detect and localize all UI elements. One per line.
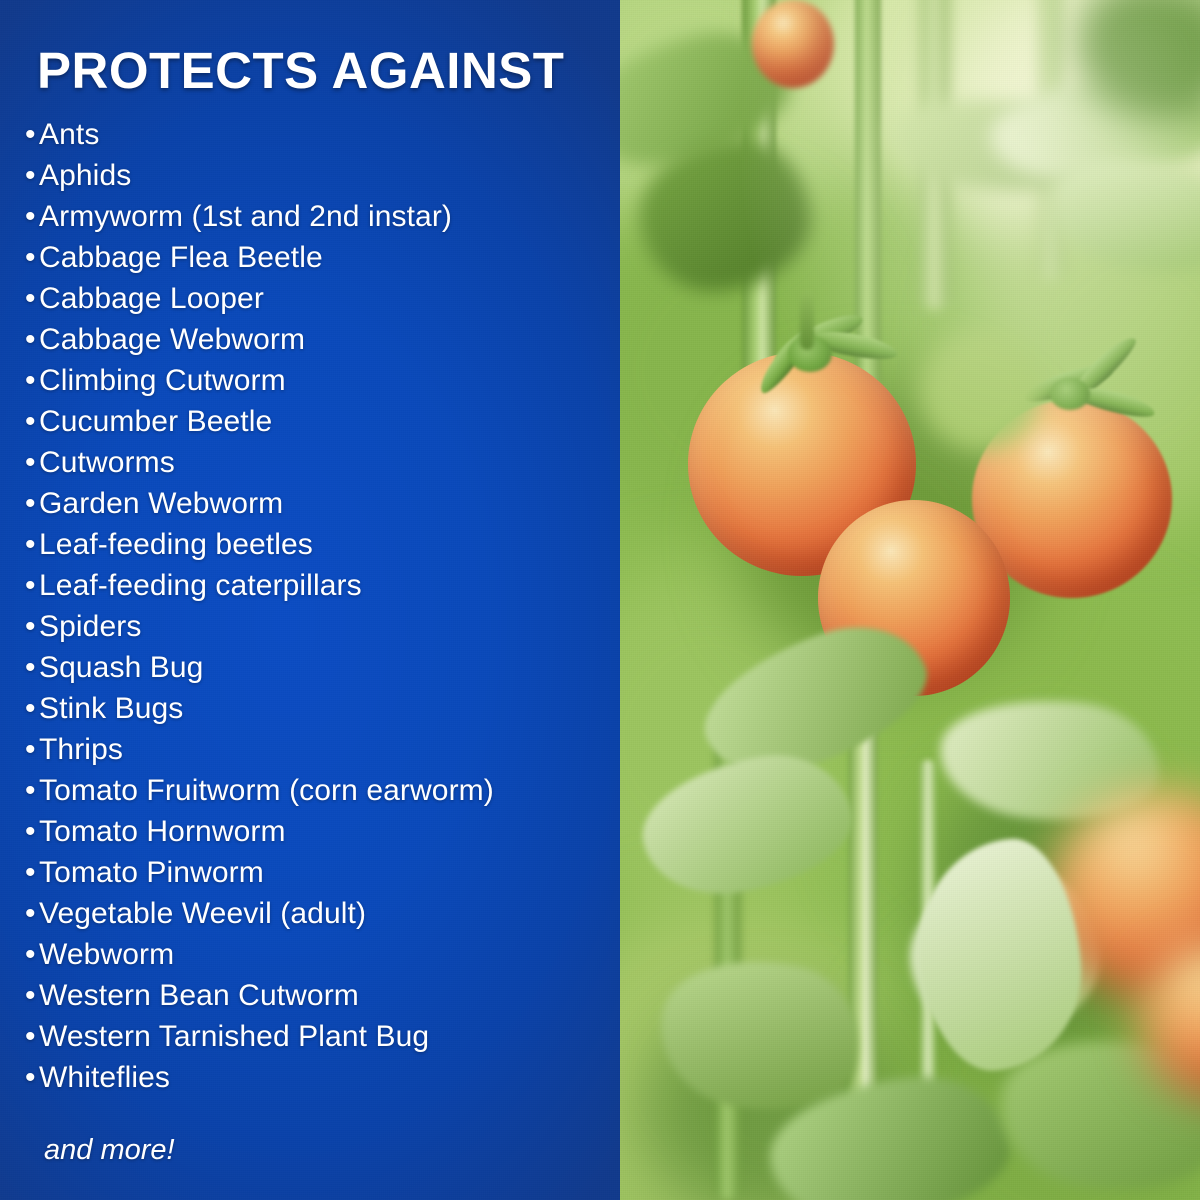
product-benefit-graphic: PROTECTS AGAINST •Ants •Aphids •Armyworm… <box>0 0 1200 1200</box>
list-item: •Tomato Fruitworm (corn earworm) <box>25 770 620 811</box>
list-item: •Whiteflies <box>25 1057 620 1098</box>
list-item-label: Leaf-feeding caterpillars <box>39 565 362 606</box>
list-item: •Stink Bugs <box>25 688 620 729</box>
unripe-tomato <box>920 330 1040 450</box>
bullet-icon: • <box>25 1016 39 1057</box>
list-item: •Vegetable Weevil (adult) <box>25 893 620 934</box>
bullet-icon: • <box>25 1057 39 1098</box>
list-item-label: Cucumber Beetle <box>39 401 272 442</box>
list-item-label: Cutworms <box>39 442 175 483</box>
list-item: •Western Bean Cutworm <box>25 975 620 1016</box>
list-item-label: Cabbage Looper <box>39 278 264 319</box>
list-item: •Garden Webworm <box>25 483 620 524</box>
bullet-icon: • <box>25 524 39 565</box>
list-item: •Tomato Hornworm <box>25 811 620 852</box>
list-item: •Tomato Pinworm <box>25 852 620 893</box>
and-more-note: and more! <box>44 1134 620 1167</box>
list-item-label: Whiteflies <box>39 1057 170 1098</box>
list-item-label: Leaf-feeding beetles <box>39 524 313 565</box>
list-item: •Cabbage Flea Beetle <box>25 237 620 278</box>
pest-list: •Ants •Aphids •Armyworm (1st and 2nd ins… <box>25 114 620 1098</box>
list-item-label: Tomato Pinworm <box>39 852 264 893</box>
tomato-plant-photo <box>620 0 1200 1200</box>
list-item: •Webworm <box>25 934 620 975</box>
list-item: •Squash Bug <box>25 647 620 688</box>
list-item-label: Ants <box>39 114 99 155</box>
list-item-label: Spiders <box>39 606 141 647</box>
list-item: •Leaf-feeding caterpillars <box>25 565 620 606</box>
list-item: •Cucumber Beetle <box>25 401 620 442</box>
bullet-icon: • <box>25 811 39 852</box>
bullet-icon: • <box>25 647 39 688</box>
list-item: •Cutworms <box>25 442 620 483</box>
list-item-label: Thrips <box>39 729 123 770</box>
page-title: PROTECTS AGAINST <box>37 44 620 98</box>
bullet-icon: • <box>25 483 39 524</box>
list-item-label: Cabbage Flea Beetle <box>39 237 323 278</box>
list-item: •Western Tarnished Plant Bug <box>25 1016 620 1057</box>
bullet-icon: • <box>25 893 39 934</box>
list-item-label: Garden Webworm <box>39 483 283 524</box>
bullet-icon: • <box>25 934 39 975</box>
bullet-icon: • <box>25 770 39 811</box>
list-item: •Armyworm (1st and 2nd instar) <box>25 196 620 237</box>
list-item: •Cabbage Webworm <box>25 319 620 360</box>
list-item-label: Cabbage Webworm <box>39 319 305 360</box>
list-item-label: Aphids <box>39 155 131 196</box>
list-item: •Cabbage Looper <box>25 278 620 319</box>
bullet-icon: • <box>25 319 39 360</box>
list-item: •Leaf-feeding beetles <box>25 524 620 565</box>
list-item-label: Climbing Cutworm <box>39 360 286 401</box>
list-item-label: Tomato Fruitworm (corn earworm) <box>39 770 494 811</box>
list-item: •Thrips <box>25 729 620 770</box>
list-item-label: Western Bean Cutworm <box>39 975 359 1016</box>
protects-against-panel: PROTECTS AGAINST •Ants •Aphids •Armyworm… <box>0 0 620 1200</box>
list-item-label: Vegetable Weevil (adult) <box>39 893 366 934</box>
bullet-icon: • <box>25 442 39 483</box>
tomato-pedicel <box>800 290 814 350</box>
bullet-icon: • <box>25 237 39 278</box>
bullet-icon: • <box>25 688 39 729</box>
tomato-fruit <box>752 0 834 88</box>
list-item: •Aphids <box>25 155 620 196</box>
list-item: •Climbing Cutworm <box>25 360 620 401</box>
list-item: •Ants <box>25 114 620 155</box>
plant-stem <box>855 0 881 390</box>
bullet-icon: • <box>25 155 39 196</box>
list-item-label: Tomato Hornworm <box>39 811 286 852</box>
bullet-icon: • <box>25 729 39 770</box>
bullet-icon: • <box>25 114 39 155</box>
list-item-label: Stink Bugs <box>39 688 183 729</box>
bullet-icon: • <box>25 852 39 893</box>
list-item: •Spiders <box>25 606 620 647</box>
list-item-label: Squash Bug <box>39 647 203 688</box>
bullet-icon: • <box>25 565 39 606</box>
list-item-label: Webworm <box>39 934 174 975</box>
bullet-icon: • <box>25 606 39 647</box>
tomato-calyx <box>1050 378 1090 410</box>
bullet-icon: • <box>25 278 39 319</box>
list-item-label: Western Tarnished Plant Bug <box>39 1016 429 1057</box>
bullet-icon: • <box>25 975 39 1016</box>
bullet-icon: • <box>25 196 39 237</box>
bullet-icon: • <box>25 360 39 401</box>
list-item-label: Armyworm (1st and 2nd instar) <box>39 196 452 237</box>
bullet-icon: • <box>25 401 39 442</box>
